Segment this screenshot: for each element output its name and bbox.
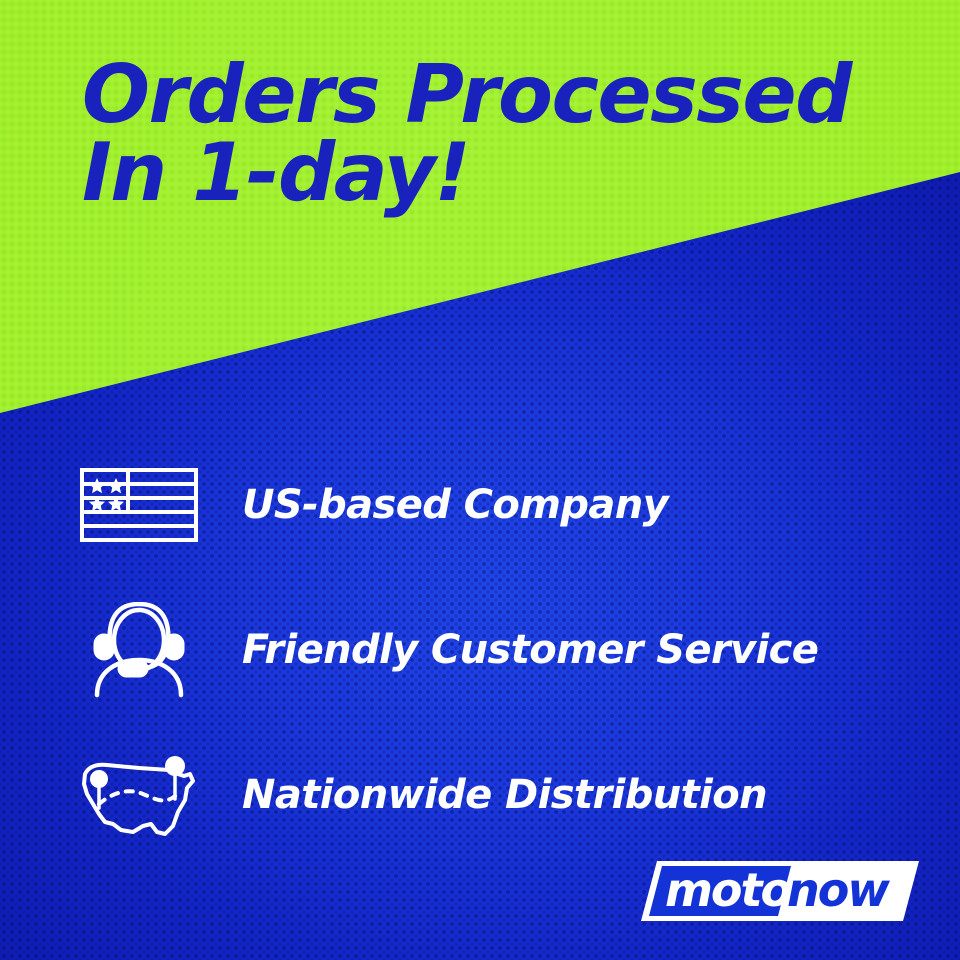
- feature-row-us-based: US-based Company: [0, 432, 960, 577]
- promo-poster: Orders Processed In 1-day!: [0, 0, 960, 960]
- feature-label: Nationwide Distribution: [242, 772, 767, 818]
- us-flag-icon: [74, 468, 204, 542]
- motonow-logo[interactable]: moto now: [641, 858, 919, 924]
- feature-label: US-based Company: [242, 482, 668, 528]
- feature-list: US-based Company: [0, 432, 960, 867]
- feature-row-nationwide: Nationwide Distribution: [0, 722, 960, 867]
- us-map-pins-icon: [74, 752, 204, 838]
- page-title: Orders Processed In 1-day!: [82, 56, 912, 213]
- logo-text-moto: moto: [665, 863, 791, 917]
- feature-label: Friendly Customer Service: [242, 627, 818, 673]
- headset-agent-icon: [74, 602, 204, 698]
- feature-row-customer-service: Friendly Customer Service: [0, 577, 960, 722]
- logo-text-now: now: [787, 863, 890, 917]
